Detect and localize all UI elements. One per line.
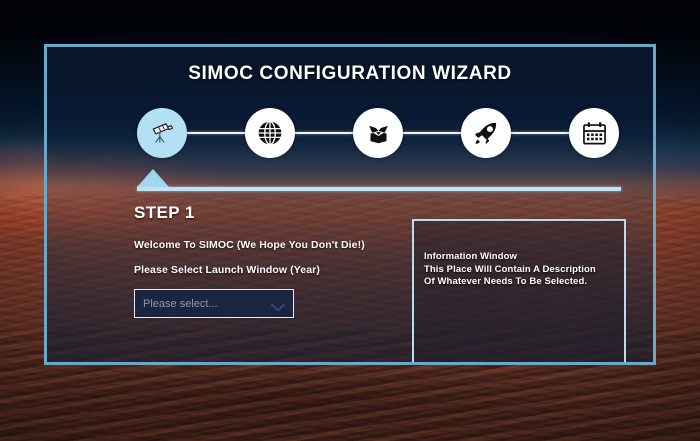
- sidebar-item-step-rocket[interactable]: [461, 108, 511, 158]
- information-window: Information Window This Place Will Conta…: [412, 219, 626, 365]
- open-box-icon: [365, 120, 392, 147]
- progress-marker-triangle: [137, 169, 169, 187]
- rocket-icon: [472, 119, 500, 147]
- wizard-stepper: [137, 108, 619, 158]
- progress-bar-track: [137, 187, 621, 191]
- launch-window-label: Please Select Launch Window (Year): [134, 264, 394, 276]
- information-window-line-2: This Place Will Contain A Description: [424, 264, 624, 277]
- welcome-text: Welcome To SIMOC (We Hope You Don't Die!…: [134, 239, 394, 251]
- page-title: SIMOC CONFIGURATION WIZARD: [47, 63, 653, 85]
- information-window-line-3: Of Whatever Needs To Be Selected.: [424, 276, 624, 289]
- step-content: STEP 1 Welcome To SIMOC (We Hope You Don…: [134, 203, 394, 318]
- calendar-icon: [581, 120, 608, 147]
- step-heading: STEP 1: [134, 203, 394, 223]
- launch-window-select[interactable]: Please select...: [134, 289, 294, 318]
- sidebar-item-step-globe[interactable]: [245, 108, 295, 158]
- information-window-title: Information Window: [424, 251, 624, 264]
- sidebar-item-step-calendar[interactable]: [569, 108, 619, 158]
- app-root: SIMOC CONFIGURATION WIZARD: [0, 0, 700, 441]
- chevron-down-icon[interactable]: [271, 299, 285, 308]
- globe-icon: [256, 119, 284, 147]
- wizard-panel: SIMOC CONFIGURATION WIZARD: [44, 44, 656, 365]
- sidebar-item-step-telescope[interactable]: [137, 108, 187, 158]
- wizard-progress: [137, 169, 621, 191]
- launch-window-select-placeholder: Please select...: [143, 298, 271, 310]
- sidebar-item-step-open-box[interactable]: [353, 108, 403, 158]
- telescope-icon: [148, 119, 176, 147]
